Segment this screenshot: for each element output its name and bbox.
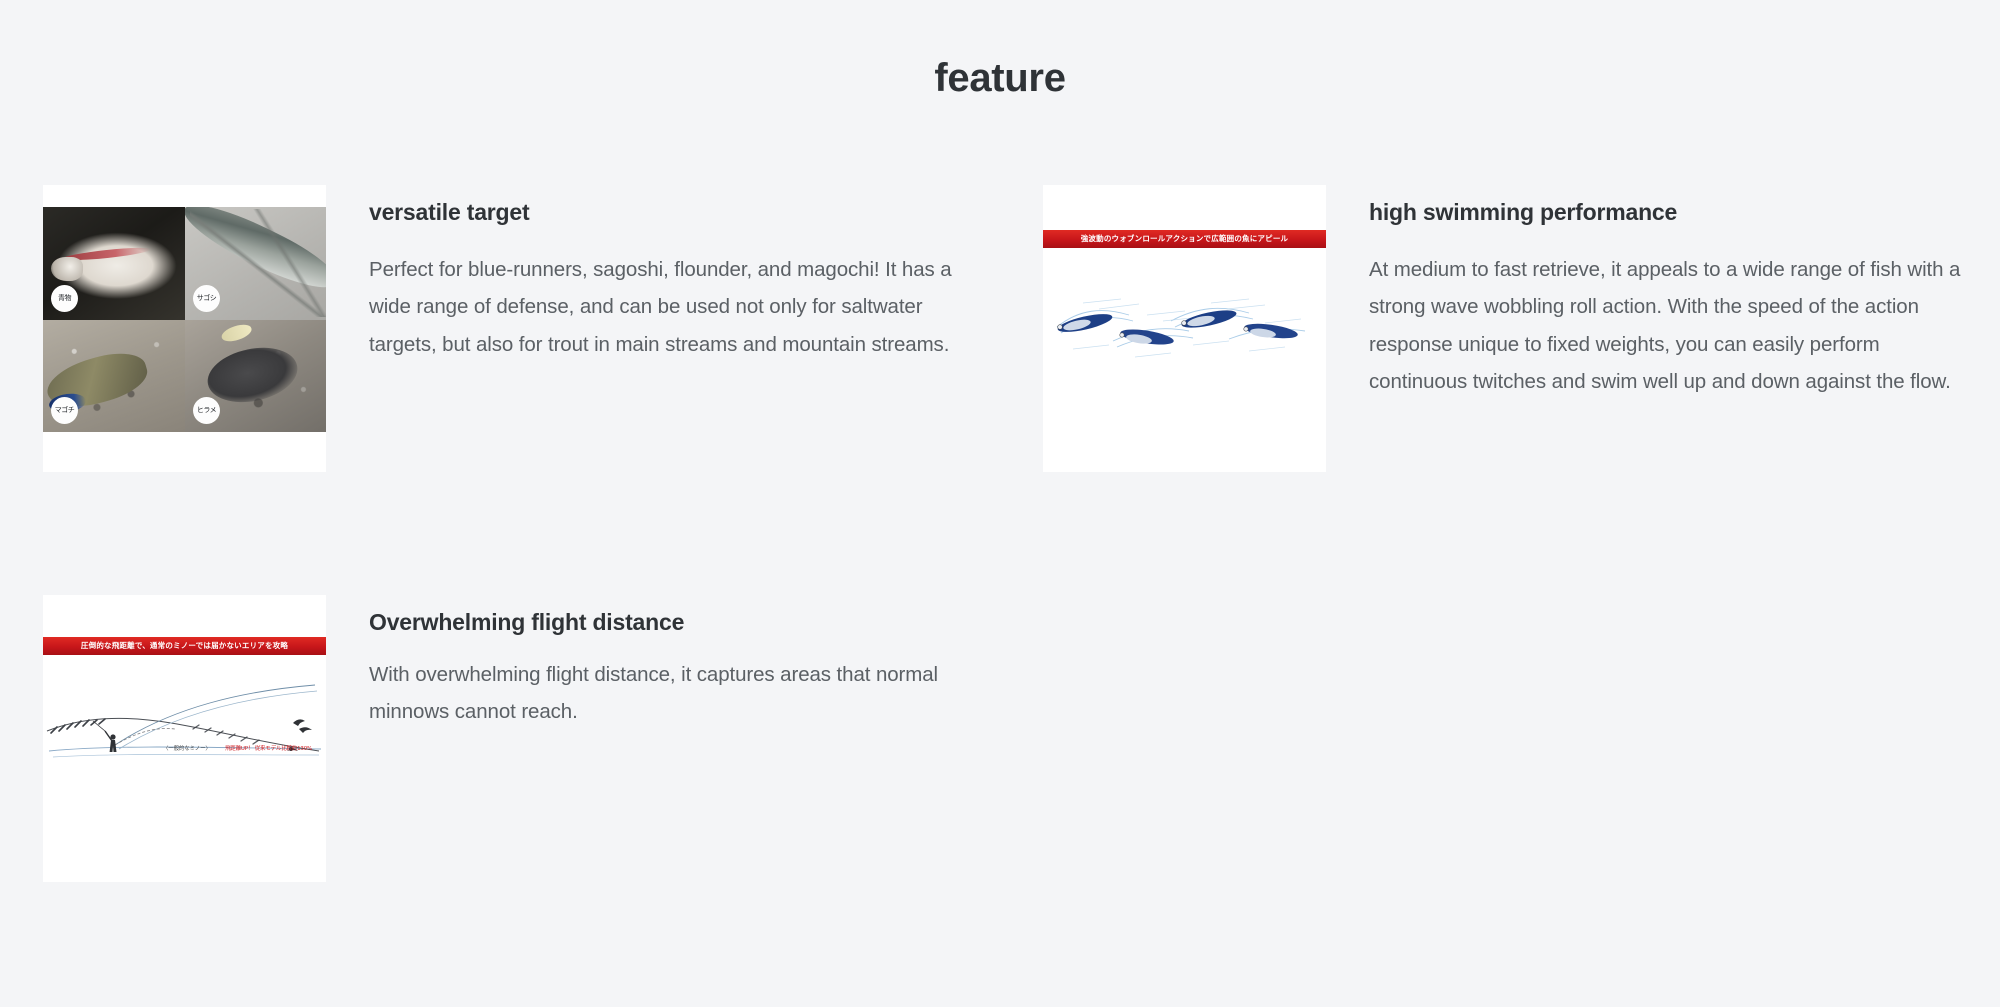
- illustration-board: 強波動のウォブンロールアクションで広範囲の魚にアピール: [1043, 207, 1326, 432]
- feature-media-card: 圧倒的な飛距離で、通常のミノーでは届かないエリアを攻略: [43, 595, 326, 882]
- page-title: feature: [0, 56, 2000, 101]
- feature-block-high-swimming-performance: 強波動のウォブンロールアクションで広範囲の魚にアピール: [1000, 185, 2000, 472]
- feature-text-block: Overwhelming flight distance With overwh…: [326, 595, 975, 731]
- feature-heading: versatile target: [369, 199, 975, 226]
- feature-grid: 青物 サゴシ マゴチ ヒラメ versatile target Perfect …: [0, 185, 2000, 882]
- feature-block-overwhelming-flight-distance: 圧倒的な飛距離で、通常のミノーでは届かないエリアを攻略: [0, 595, 1000, 882]
- feature-body: Perfect for blue-runners, sagoshi, floun…: [369, 251, 975, 363]
- diagram-caption-highlight: 飛距離UP！ 従来モデル比較約130%: [225, 744, 312, 752]
- fish-badge-aomono: 青物: [51, 285, 78, 312]
- wobbling-lure-diagram: [1043, 269, 1326, 379]
- feature-image-flight-distance: 圧倒的な飛距離で、通常のミノーでは届かないエリアを攻略: [43, 617, 326, 842]
- board-banner-text: 圧倒的な飛距離で、通常のミノーでは届かないエリアを攻略: [43, 637, 326, 655]
- diagram-caption-normal: 〈一般的なミノー〉: [163, 744, 211, 752]
- feature-row: 圧倒的な飛距離で、通常のミノーでは届かないエリアを攻略: [0, 595, 2000, 882]
- feature-block-versatile-target: 青物 サゴシ マゴチ ヒラメ versatile target Perfect …: [0, 185, 1000, 472]
- fish-collage: 青物 サゴシ マゴチ ヒラメ: [43, 207, 326, 432]
- flight-distance-diagram: [43, 665, 326, 815]
- feature-media-card: 青物 サゴシ マゴチ ヒラメ: [43, 185, 326, 472]
- feature-text-block: high swimming performance At medium to f…: [1326, 185, 1975, 400]
- feature-heading: Overwhelming flight distance: [369, 609, 975, 636]
- feature-image-swimming: 強波動のウォブンロールアクションで広範囲の魚にアピール: [1043, 207, 1326, 432]
- feature-heading: high swimming performance: [1369, 199, 1975, 226]
- feature-section-page: feature 青物 サゴシ マゴチ ヒ: [0, 0, 2000, 1007]
- feature-row: 青物 サゴシ マゴチ ヒラメ versatile target Perfect …: [0, 185, 2000, 472]
- illustration-board: 圧倒的な飛距離で、通常のミノーでは届かないエリアを攻略: [43, 617, 326, 842]
- feature-body: At medium to fast retrieve, it appeals t…: [1369, 251, 1975, 400]
- feature-text-block: versatile target Perfect for blue-runner…: [326, 185, 975, 363]
- feature-body: With overwhelming flight distance, it ca…: [369, 656, 975, 731]
- fish-badge-hirame: ヒラメ: [193, 397, 220, 424]
- feature-image-collage: 青物 サゴシ マゴチ ヒラメ: [43, 207, 326, 432]
- board-banner-text: 強波動のウォブンロールアクションで広範囲の魚にアピール: [1043, 230, 1326, 248]
- fish-badge-magochi: マゴチ: [51, 397, 78, 424]
- fish-badge-sagoshi: サゴシ: [193, 285, 220, 312]
- feature-media-card: 強波動のウォブンロールアクションで広範囲の魚にアピール: [1043, 185, 1326, 472]
